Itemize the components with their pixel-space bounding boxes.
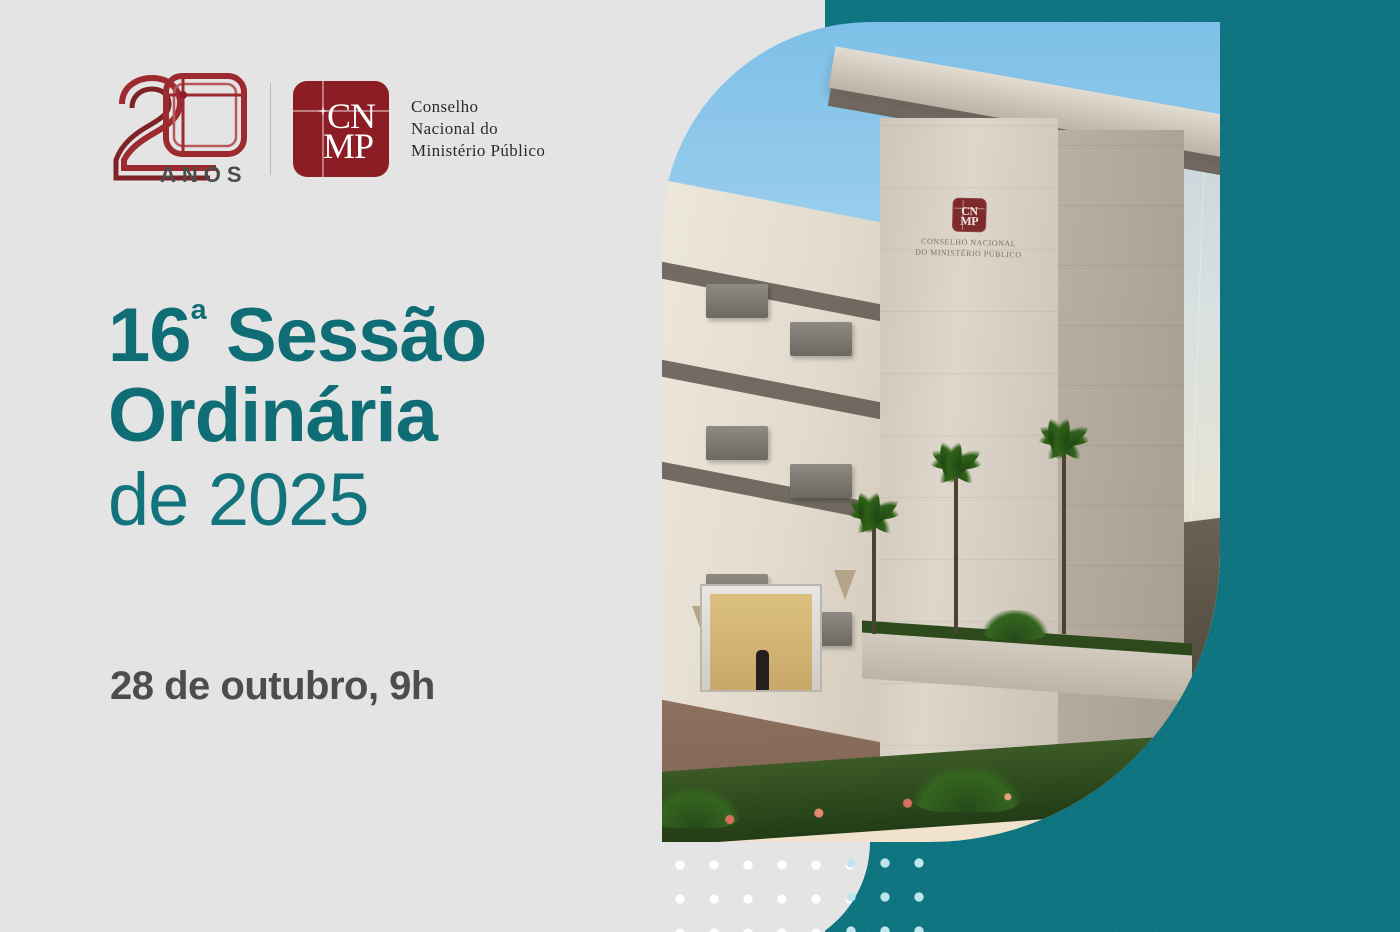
palm-trunk <box>1062 434 1066 634</box>
cnmp-headquarters-photo: CN MP Conselho Nacional do Ministério Pú… <box>662 22 1220 842</box>
20-anos-logo-icon: ANOS <box>108 70 248 188</box>
palm-tree <box>954 458 958 634</box>
palm-tree <box>1062 434 1066 634</box>
dot-grid-on-teal <box>826 838 940 932</box>
awning-lamp <box>834 570 856 600</box>
ac-unit <box>706 426 768 460</box>
building-signage: CN MP Conselho Nacional do Ministério Pú… <box>913 197 1025 261</box>
session-word: Sessão <box>206 293 486 378</box>
session-datetime: 28 de outubro, 9h <box>110 664 435 709</box>
building-tower-side <box>1058 130 1184 806</box>
session-announcement-banner: CNMP CNMP CNMP <box>0 0 1400 932</box>
cnmp-monogram-line2: MP <box>323 131 375 161</box>
logo-divider <box>270 83 271 175</box>
logo-row: ANOS CN MP Conselho Nacional do Ministér… <box>108 70 545 188</box>
anos-label: ANOS <box>160 162 248 188</box>
wordmark-line3: Ministério Público <box>411 140 545 162</box>
cnmp-sign-mark-icon: CN MP <box>952 198 987 233</box>
title-line-3: de 2025 <box>108 456 648 544</box>
person-silhouette <box>756 650 769 690</box>
cnmp-logo-icon: CN MP <box>293 81 389 177</box>
wordmark-line1: Conselho <box>411 96 545 118</box>
title-line-1: 16ª Sessão <box>108 296 648 376</box>
palm-tree <box>872 508 876 634</box>
sign-mark-line2: MP <box>952 216 986 228</box>
shrub <box>982 610 1048 640</box>
ac-unit <box>790 322 852 356</box>
ac-unit <box>706 284 768 318</box>
ac-unit <box>790 464 852 498</box>
palm-trunk <box>954 458 958 634</box>
wordmark-line2: Nacional do <box>411 118 545 140</box>
ordinal-marker: ª <box>191 296 206 345</box>
session-number: 16 <box>108 293 191 378</box>
photo-canvas: CN MP Conselho Nacional do Ministério Pú… <box>662 22 1220 842</box>
title-line-2: Ordinária <box>108 376 648 456</box>
page-title: 16ª Sessão Ordinária de 2025 <box>108 296 648 544</box>
cnmp-wordmark: Conselho Nacional do Ministério Público <box>411 96 545 162</box>
cnmp-monogram: CN MP <box>327 101 375 161</box>
